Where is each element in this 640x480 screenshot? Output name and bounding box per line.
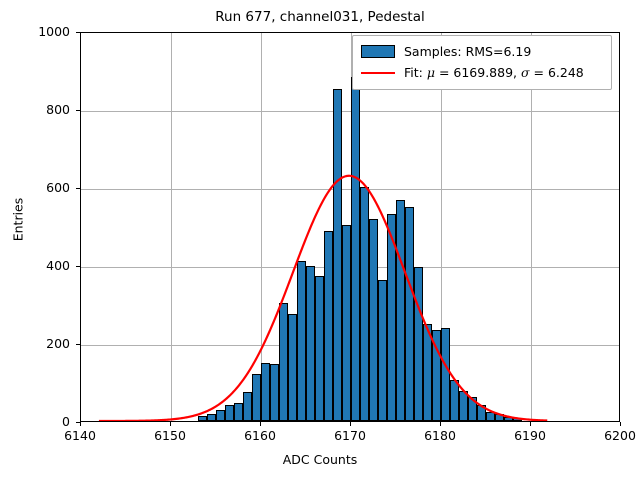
gaussian-fit-curve [81,33,619,421]
legend-swatch-bar-icon [361,45,395,58]
x-tick [80,422,81,426]
chart-figure: Run 677, channel031, Pedestal 6140615061… [0,0,640,480]
y-tick-label: 1000 [16,24,70,39]
x-tick [620,422,621,426]
legend-entry-fit: Fit: μ = 6169.889, σ = 6.248 [359,62,605,83]
x-tick-label: 6180 [405,428,475,443]
x-tick-label: 6170 [315,428,385,443]
x-tick [170,422,171,426]
y-axis-label: Entries [11,110,26,330]
legend-fit-mu-value: = 6169.889, [435,65,521,80]
legend-label-fit: Fit: μ = 6169.889, σ = 6.248 [404,65,584,80]
plot-area [80,32,620,422]
legend-fit-sigma-symbol: σ [521,65,530,80]
y-tick [76,188,80,189]
x-tick [440,422,441,426]
y-tick [76,344,80,345]
legend-entry-samples: Samples: RMS=6.19 [359,41,605,62]
x-tick-label: 6140 [45,428,115,443]
legend-fit-sigma-value: = 6.248 [530,65,584,80]
x-tick-label: 6160 [225,428,295,443]
y-tick [76,32,80,33]
legend-swatch-line-icon [361,72,395,74]
chart-title: Run 677, channel031, Pedestal [0,9,640,25]
x-axis-label: ADC Counts [0,452,640,467]
y-tick [76,422,80,423]
y-tick [76,110,80,111]
y-tick-label: 0 [16,414,70,429]
legend-fit-mu-symbol: μ [427,65,435,80]
x-tick-label: 6150 [135,428,205,443]
legend-fit-prefix: Fit: [404,65,427,80]
y-tick-label: 200 [16,336,70,351]
x-tick [260,422,261,426]
chart-legend: Samples: RMS=6.19 Fit: μ = 6169.889, σ =… [352,35,612,90]
legend-label-samples: Samples: RMS=6.19 [404,44,531,59]
x-tick [530,422,531,426]
x-tick [350,422,351,426]
x-tick-label: 6190 [495,428,565,443]
x-tick-label: 6200 [585,428,640,443]
y-tick [76,266,80,267]
